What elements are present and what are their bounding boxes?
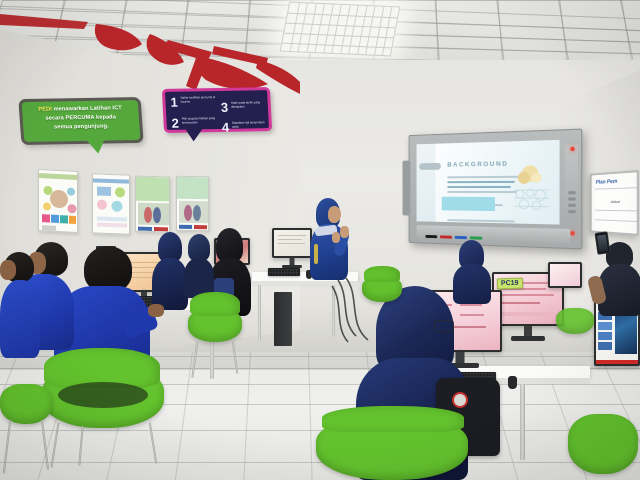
monitor-back-right[interactable] [548,262,582,288]
chair-mid-back[interactable] [188,292,244,378]
marker-pen-blue[interactable] [455,236,467,239]
step-item: 1 Daftar keahlian percuma di kaunter [167,94,219,112]
chair-right-front[interactable] [568,406,640,480]
monitor-stand [524,326,532,336]
red-wave-wall-graphic [0,0,300,100]
chair-front-left[interactable] [40,348,166,466]
step-number: 1 [170,96,178,111]
step-item: 3 Hadir pada tarikh yang ditetapkan [217,99,269,117]
step-number: 3 [221,101,229,116]
slide-highlight-box [442,197,495,211]
person-student-mid-3 [184,234,216,296]
speech-bubble-tail [86,140,105,154]
slide-illustration [508,161,553,215]
whiteboard-screen[interactable]: BACKGROUND [417,140,560,225]
hand [340,226,349,238]
floor-tile-line [308,352,313,480]
whiteboard-subnote: Jadual [610,200,620,204]
staff-lanyard [314,244,318,264]
whiteboard-mount-arm [403,161,411,216]
workstation-label-pc19: PC19 [497,278,523,290]
slide-tab-shape [419,163,441,170]
step-item: 4 Dapatkan sijil penyertaan anda [219,119,271,137]
pc-tower-back [274,292,292,346]
sign-line-3: semua pengunjung. [54,124,109,131]
keyboard-back-centre[interactable] [268,268,300,276]
slide-sidebar [417,144,435,222]
person-instructor [306,198,356,288]
poster-3 [135,176,170,233]
torso-blue-shirt [0,280,40,358]
whiteboard-button[interactable] [568,210,576,213]
mouse-front-centre[interactable] [508,376,517,389]
sign-line-1: menawarkan Latihan ICT [53,105,122,112]
marker-pen-red[interactable] [440,235,452,238]
step-number: 4 [222,121,230,136]
step-text: Hadir pada tarikh yang ditetapkan [231,100,267,116]
sign-pedi-free-training: PEDI menawarkan Latihan ICT secara PERCU… [18,97,143,145]
step-number: 2 [171,117,179,132]
sign-line-2: secara PERCUMA kepada [45,115,116,122]
poster-4 [176,176,209,232]
whiteboard-button[interactable] [568,204,576,207]
status-led-icon [570,231,574,235]
hand [148,304,164,317]
face [328,206,341,223]
whiteboard-button[interactable] [568,197,576,200]
hand [332,232,340,243]
classroom-photo: PEDI menawarkan Latihan ICT secara PERCU… [0,0,640,480]
cable-bundle [330,276,450,366]
interactive-whiteboard[interactable]: BACKGROUND [409,129,583,250]
person-student-left-3 [0,252,42,360]
chair-front-centre[interactable] [316,406,472,480]
desk-leg [258,285,261,341]
sign-four-steps: 1 Daftar keahlian percuma di kaunter 2 P… [162,87,272,133]
chair-far-right[interactable] [556,300,596,342]
whiteboard-heading: Plan Pem [596,179,618,186]
speech-bubble-tail [185,128,204,141]
sign-brand: PEDI [38,107,52,113]
poster-2 [92,173,130,234]
step-text: Daftar keahlian percuma di kaunter [180,95,216,111]
poster-1 [38,169,78,233]
slide-title: BACKGROUND [447,161,508,169]
face [0,260,16,280]
wall-whiteboard: Plan Pem Jadual [590,170,639,236]
marker-pen-black[interactable] [425,235,437,238]
chair-left-mid[interactable] [0,378,54,478]
hijab [188,234,210,261]
whiteboard-button[interactable] [568,191,576,194]
hijab [216,228,243,262]
step-text: Dapatkan sijil penyertaan anda [232,120,268,136]
floor-tile-line [243,352,251,480]
monitor-screen[interactable] [548,262,582,288]
presentation-slide: BACKGROUND [417,140,560,225]
desk-leg [520,384,525,460]
monitor-base [511,336,545,341]
monitor-stand [290,258,295,265]
